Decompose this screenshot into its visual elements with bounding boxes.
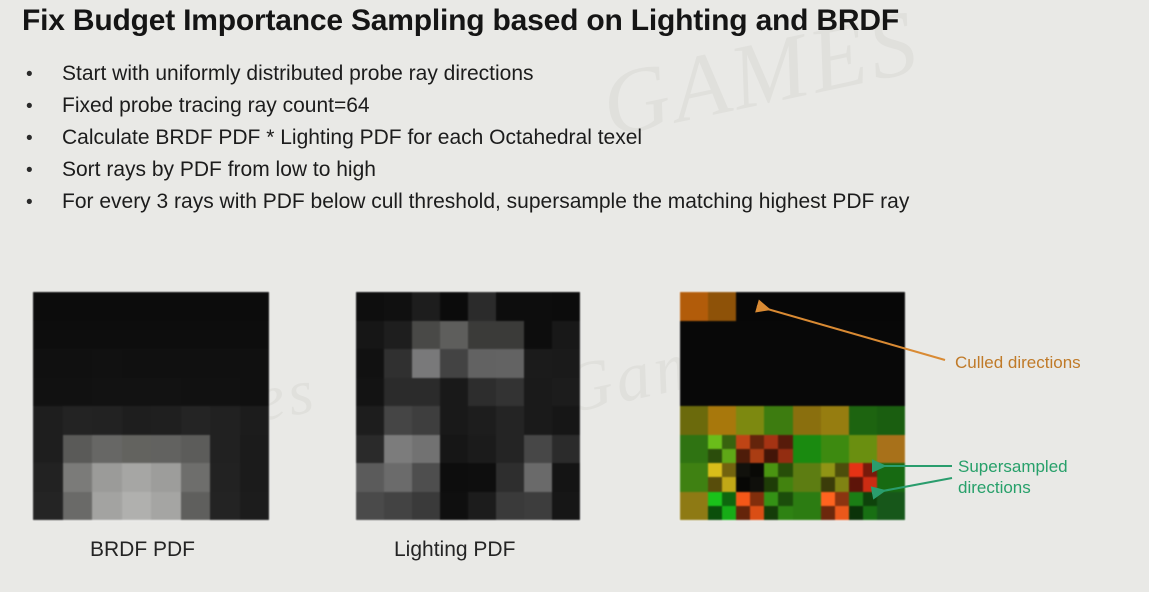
texel: [524, 435, 552, 464]
texel: [849, 492, 877, 521]
texel: [877, 492, 905, 521]
texel: [33, 492, 63, 521]
texel: [496, 292, 524, 321]
list-item-label: For every 3 rays with PDF below cull thr…: [62, 190, 909, 214]
texel: [524, 492, 552, 521]
texel: [468, 378, 496, 407]
list-item: • Calculate BRDF PDF * Lighting PDF for …: [22, 126, 1142, 158]
annotation-supersampled-label-line2: directions: [958, 477, 1068, 498]
texel: [151, 378, 181, 407]
sub-texel: [778, 449, 792, 463]
texel: [877, 435, 905, 464]
brdf-pdf-image: [33, 292, 269, 520]
list-item: • Start with uniformly distributed probe…: [22, 62, 1142, 94]
texel: [240, 492, 270, 521]
texel: [440, 463, 468, 492]
sub-texel: [736, 463, 750, 477]
texel: [468, 406, 496, 435]
texel: [793, 292, 821, 321]
texel: [356, 435, 384, 464]
texel: [849, 321, 877, 350]
texel: [680, 406, 708, 435]
texel: [524, 292, 552, 321]
figure-caption-brdf: BRDF PDF: [90, 538, 195, 562]
sub-texel: [736, 477, 750, 491]
sub-texel: [849, 492, 863, 506]
texel: [240, 292, 270, 321]
figure-caption-lighting: Lighting PDF: [394, 538, 515, 562]
texel: [122, 406, 152, 435]
figure-lighting-pdf: Lighting PDF: [356, 292, 580, 520]
texel: [793, 378, 821, 407]
texel: [793, 349, 821, 378]
texel: [821, 292, 849, 321]
sub-texel: [821, 477, 835, 491]
texel: [63, 492, 93, 521]
annotation-supersampled-directions: Supersampled directions: [958, 456, 1068, 498]
sub-texel: [835, 463, 849, 477]
texel: [412, 292, 440, 321]
texel: [122, 321, 152, 350]
texel: [356, 406, 384, 435]
texel: [63, 321, 93, 350]
texel: [181, 492, 211, 521]
texel: [764, 378, 792, 407]
texel: [384, 406, 412, 435]
texel: [468, 292, 496, 321]
texel: [384, 378, 412, 407]
texel: [680, 349, 708, 378]
sub-texel: [821, 506, 835, 520]
texel: [524, 378, 552, 407]
texel: [764, 406, 792, 435]
sub-texel: [750, 463, 764, 477]
texel: [122, 492, 152, 521]
texel: [764, 435, 792, 464]
texel: [240, 378, 270, 407]
texel: [33, 292, 63, 321]
texel: [412, 463, 440, 492]
texel: [821, 492, 849, 521]
texel: [92, 463, 122, 492]
supersampled-texel-group: [736, 463, 764, 492]
texel: [412, 349, 440, 378]
texel: [468, 349, 496, 378]
sub-texel: [835, 492, 849, 506]
lighting-pdf-image: [356, 292, 580, 520]
texel: [440, 492, 468, 521]
supersampled-texel-group: [764, 463, 792, 492]
texel: [384, 435, 412, 464]
figure-brdf-pdf: BRDF PDF: [33, 292, 269, 520]
supersampled-texel-group: [708, 463, 736, 492]
sub-texel: [764, 492, 778, 506]
sub-texel: [863, 463, 877, 477]
texel: [877, 349, 905, 378]
texel: [92, 406, 122, 435]
texel: [496, 435, 524, 464]
sub-texel: [849, 477, 863, 491]
texel: [240, 463, 270, 492]
texel: [708, 321, 736, 350]
texel: [63, 406, 93, 435]
sub-texel: [708, 477, 722, 491]
texel: [736, 349, 764, 378]
list-item-label: Start with uniformly distributed probe r…: [62, 62, 534, 86]
sub-texel: [778, 477, 792, 491]
texel: [33, 463, 63, 492]
texel: [468, 492, 496, 521]
list-item-label: Calculate BRDF PDF * Lighting PDF for ea…: [62, 126, 642, 150]
texel: [793, 492, 821, 521]
texel: [210, 463, 240, 492]
sub-texel: [821, 463, 835, 477]
sub-texel: [750, 506, 764, 520]
sub-texel: [722, 506, 736, 520]
texel: [151, 463, 181, 492]
texel: [210, 492, 240, 521]
annotation-supersampled-label-line1: Supersampled: [958, 456, 1068, 477]
sub-texel: [736, 449, 750, 463]
texel: [736, 492, 764, 521]
supersampled-texel-group: [821, 492, 849, 521]
texel: [708, 435, 736, 464]
texel: [736, 406, 764, 435]
texel: [793, 321, 821, 350]
sub-texel: [708, 435, 722, 449]
texel: [356, 292, 384, 321]
texel: [821, 349, 849, 378]
texel: [849, 349, 877, 378]
slide: Fix Budget Importance Sampling based on …: [0, 0, 1149, 592]
texel: [524, 321, 552, 350]
sub-texel: [778, 435, 792, 449]
texel: [356, 378, 384, 407]
texel: [92, 378, 122, 407]
texel: [412, 406, 440, 435]
supersampled-texel-group: [764, 492, 792, 521]
texel: [210, 378, 240, 407]
texel: [736, 292, 764, 321]
texel: [151, 435, 181, 464]
texel: [680, 463, 708, 492]
sub-texel: [764, 449, 778, 463]
texel: [440, 406, 468, 435]
texel: [122, 349, 152, 378]
sub-texel: [722, 492, 736, 506]
texel: [92, 349, 122, 378]
texel: [736, 435, 764, 464]
texel: [524, 463, 552, 492]
texel: [151, 321, 181, 350]
texel: [849, 292, 877, 321]
texel: [524, 406, 552, 435]
texel: [240, 435, 270, 464]
texel: [708, 292, 736, 321]
texel: [552, 406, 580, 435]
texel: [384, 492, 412, 521]
texel: [496, 349, 524, 378]
figure-pdf-product: [680, 292, 905, 520]
sub-texel: [764, 463, 778, 477]
bullet-marker-icon: •: [22, 96, 62, 118]
pdf-product-grid: [680, 292, 905, 520]
texel: [849, 463, 877, 492]
texel: [468, 321, 496, 350]
texel: [440, 321, 468, 350]
texel: [877, 292, 905, 321]
sub-texel: [863, 506, 877, 520]
texel: [496, 321, 524, 350]
texel: [877, 321, 905, 350]
texel: [877, 406, 905, 435]
texel: [821, 463, 849, 492]
texel: [821, 435, 849, 464]
texel: [849, 406, 877, 435]
texel: [793, 435, 821, 464]
texel: [708, 492, 736, 521]
bullet-list: • Start with uniformly distributed probe…: [22, 62, 1142, 222]
texel: [708, 349, 736, 378]
texel: [63, 349, 93, 378]
texel: [151, 492, 181, 521]
sub-texel: [863, 477, 877, 491]
sub-texel: [708, 506, 722, 520]
list-item-label: Sort rays by PDF from low to high: [62, 158, 376, 182]
texel: [680, 435, 708, 464]
texel: [680, 292, 708, 321]
bullet-marker-icon: •: [22, 64, 62, 86]
texel: [181, 435, 211, 464]
texel: [356, 463, 384, 492]
texel: [708, 463, 736, 492]
texel: [33, 435, 63, 464]
texel: [181, 378, 211, 407]
texel: [63, 378, 93, 407]
texel: [210, 349, 240, 378]
sub-texel: [708, 449, 722, 463]
sub-texel: [708, 492, 722, 506]
sub-texel: [736, 492, 750, 506]
texel: [552, 463, 580, 492]
texel: [33, 406, 63, 435]
texel: [384, 349, 412, 378]
lighting-pdf-grid: [356, 292, 580, 520]
texel: [552, 378, 580, 407]
texel: [708, 406, 736, 435]
texel: [764, 349, 792, 378]
texel: [92, 492, 122, 521]
supersampled-texel-group: [849, 492, 877, 521]
sub-texel: [849, 463, 863, 477]
sub-texel: [736, 435, 750, 449]
texel: [764, 492, 792, 521]
sub-texel: [778, 492, 792, 506]
texel: [764, 321, 792, 350]
texel: [412, 378, 440, 407]
texel: [877, 463, 905, 492]
texel: [356, 492, 384, 521]
texel: [552, 292, 580, 321]
texel: [92, 435, 122, 464]
texel: [92, 292, 122, 321]
texel: [552, 435, 580, 464]
texel: [33, 321, 63, 350]
sub-texel: [778, 506, 792, 520]
texel: [384, 321, 412, 350]
bullet-marker-icon: •: [22, 128, 62, 150]
texel: [181, 463, 211, 492]
texel: [496, 492, 524, 521]
texel: [468, 435, 496, 464]
texel: [440, 378, 468, 407]
texel: [440, 435, 468, 464]
bullet-marker-icon: •: [22, 160, 62, 182]
texel: [240, 321, 270, 350]
texel: [210, 292, 240, 321]
texel: [764, 292, 792, 321]
sub-texel: [764, 506, 778, 520]
texel: [736, 378, 764, 407]
supersampled-texel-group: [821, 463, 849, 492]
texel: [821, 321, 849, 350]
sub-texel: [722, 477, 736, 491]
sub-texel: [736, 506, 750, 520]
texel: [524, 349, 552, 378]
texel: [240, 349, 270, 378]
texel: [496, 406, 524, 435]
sub-texel: [750, 449, 764, 463]
sub-texel: [722, 463, 736, 477]
texel: [877, 378, 905, 407]
texel: [384, 463, 412, 492]
sub-texel: [750, 477, 764, 491]
texel: [63, 292, 93, 321]
texel: [210, 406, 240, 435]
texel: [356, 321, 384, 350]
texel: [793, 463, 821, 492]
texel: [680, 321, 708, 350]
annotation-culled-directions: Culled directions: [955, 352, 1081, 373]
texel: [240, 406, 270, 435]
texel: [736, 321, 764, 350]
sub-texel: [722, 435, 736, 449]
texel: [122, 378, 152, 407]
texel: [151, 406, 181, 435]
supersampled-texel-group: [849, 463, 877, 492]
texel: [92, 321, 122, 350]
sub-texel: [764, 435, 778, 449]
brdf-pdf-grid: [33, 292, 269, 520]
texel: [412, 435, 440, 464]
texel: [384, 292, 412, 321]
sub-texel: [849, 506, 863, 520]
texel: [412, 321, 440, 350]
sub-texel: [821, 492, 835, 506]
sub-texel: [764, 477, 778, 491]
texel: [151, 349, 181, 378]
texel: [122, 292, 152, 321]
texel: [181, 406, 211, 435]
texel: [496, 463, 524, 492]
annotation-culled-label: Culled directions: [955, 353, 1081, 372]
supersampled-texel-group: [764, 435, 792, 464]
texel: [496, 378, 524, 407]
texel: [63, 435, 93, 464]
pdf-product-image: [680, 292, 905, 520]
list-item-label: Fixed probe tracing ray count=64: [62, 94, 370, 118]
texel: [680, 492, 708, 521]
sub-texel: [750, 492, 764, 506]
texel: [210, 435, 240, 464]
list-item: • Fixed probe tracing ray count=64: [22, 94, 1142, 126]
list-item: • For every 3 rays with PDF below cull t…: [22, 190, 1142, 222]
texel: [440, 292, 468, 321]
sub-texel: [835, 477, 849, 491]
texel: [821, 378, 849, 407]
supersampled-texel-group: [736, 492, 764, 521]
texel: [736, 463, 764, 492]
texel: [552, 349, 580, 378]
sub-texel: [750, 435, 764, 449]
texel: [33, 349, 63, 378]
sub-texel: [835, 506, 849, 520]
sub-texel: [722, 449, 736, 463]
texel: [764, 463, 792, 492]
texel: [356, 349, 384, 378]
list-item: • Sort rays by PDF from low to high: [22, 158, 1142, 190]
texel: [412, 492, 440, 521]
texel: [821, 406, 849, 435]
supersampled-texel-group: [736, 435, 764, 464]
texel: [181, 321, 211, 350]
sub-texel: [778, 463, 792, 477]
texel: [680, 378, 708, 407]
bullet-marker-icon: •: [22, 192, 62, 214]
texel: [708, 378, 736, 407]
texel: [33, 378, 63, 407]
texel: [552, 492, 580, 521]
texel: [122, 463, 152, 492]
texel: [793, 406, 821, 435]
texel: [468, 463, 496, 492]
texel: [122, 435, 152, 464]
texel: [63, 463, 93, 492]
texel: [849, 435, 877, 464]
texel: [151, 292, 181, 321]
texel: [849, 378, 877, 407]
texel: [181, 349, 211, 378]
texel: [440, 349, 468, 378]
page-title: Fix Budget Importance Sampling based on …: [22, 4, 899, 38]
texel: [181, 292, 211, 321]
texel: [552, 321, 580, 350]
sub-texel: [863, 492, 877, 506]
sub-texel: [708, 463, 722, 477]
supersampled-texel-group: [708, 492, 736, 521]
supersampled-texel-group: [708, 435, 736, 464]
texel: [210, 321, 240, 350]
